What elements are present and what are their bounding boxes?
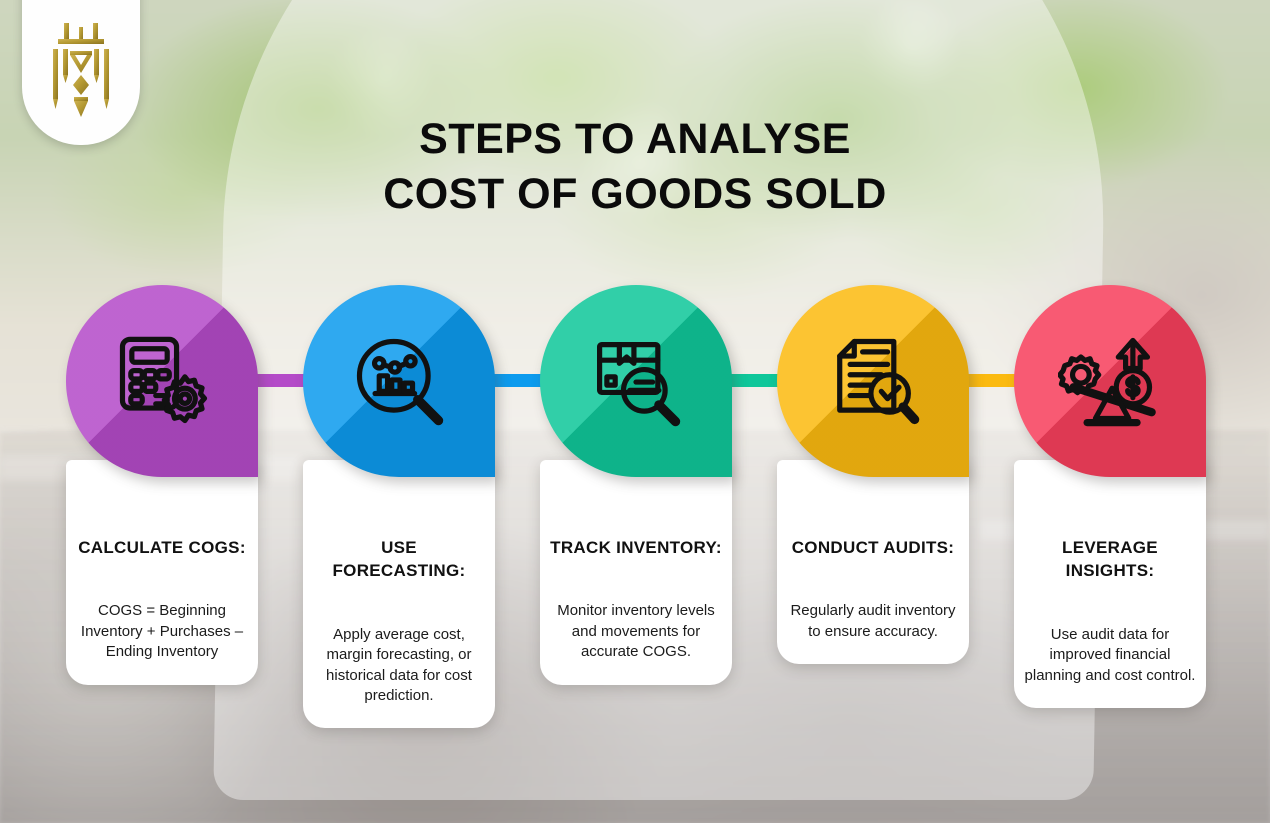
company-monogram-logo xyxy=(44,23,118,119)
step-4-body: Regularly audit inventory to ensure accu… xyxy=(787,601,959,642)
step-3-heading: TRACK INVENTORY: xyxy=(550,536,722,559)
step-2-body: Apply average cost, margin forecasting, … xyxy=(313,625,485,707)
steps-row: CALCULATE COGS: COGS = Beginning Invento… xyxy=(0,285,1270,785)
step-1-body: COGS = Beginning Inventory + Purchases –… xyxy=(76,601,248,662)
step-4-icon-badge xyxy=(777,285,969,477)
step-2-icon-badge xyxy=(303,285,495,477)
step-5-card: LEVERAGE INSIGHTS: Use audit data for im… xyxy=(1014,460,1206,708)
document-magnifier-check-icon xyxy=(821,329,925,433)
magnifier-bar-chart-icon xyxy=(347,329,451,433)
step-5-heading: LEVERAGE INSIGHTS: xyxy=(1024,536,1196,583)
step-5-icon-badge xyxy=(1014,285,1206,477)
seesaw-gear-dollar-icon xyxy=(1058,329,1162,433)
infographic-canvas: STEPS TO ANALYSE COST OF GOODS SOLD xyxy=(0,0,1270,823)
step-2-heading: USE FORECASTING: xyxy=(313,536,485,583)
step-1-icon-badge xyxy=(66,285,258,477)
step-4-card: CONDUCT AUDITS: Regularly audit inventor… xyxy=(777,460,969,664)
step-1-heading: CALCULATE COGS: xyxy=(76,536,248,559)
calculator-gear-icon xyxy=(110,329,214,433)
step-4-heading: CONDUCT AUDITS: xyxy=(787,536,959,559)
step-3-card: TRACK INVENTORY: Monitor inventory level… xyxy=(540,460,732,685)
package-magnifier-icon xyxy=(584,329,688,433)
step-2-card: USE FORECASTING: Apply average cost, mar… xyxy=(303,460,495,728)
page-title-line-1: STEPS TO ANALYSE xyxy=(0,112,1270,167)
page-title-line-2: COST OF GOODS SOLD xyxy=(0,167,1270,222)
page-title: STEPS TO ANALYSE COST OF GOODS SOLD xyxy=(0,112,1270,222)
step-5-body: Use audit data for improved financial pl… xyxy=(1024,625,1196,686)
step-3-body: Monitor inventory levels and movements f… xyxy=(550,601,722,662)
step-3-icon-badge xyxy=(540,285,732,477)
step-1-card: CALCULATE COGS: COGS = Beginning Invento… xyxy=(66,460,258,685)
